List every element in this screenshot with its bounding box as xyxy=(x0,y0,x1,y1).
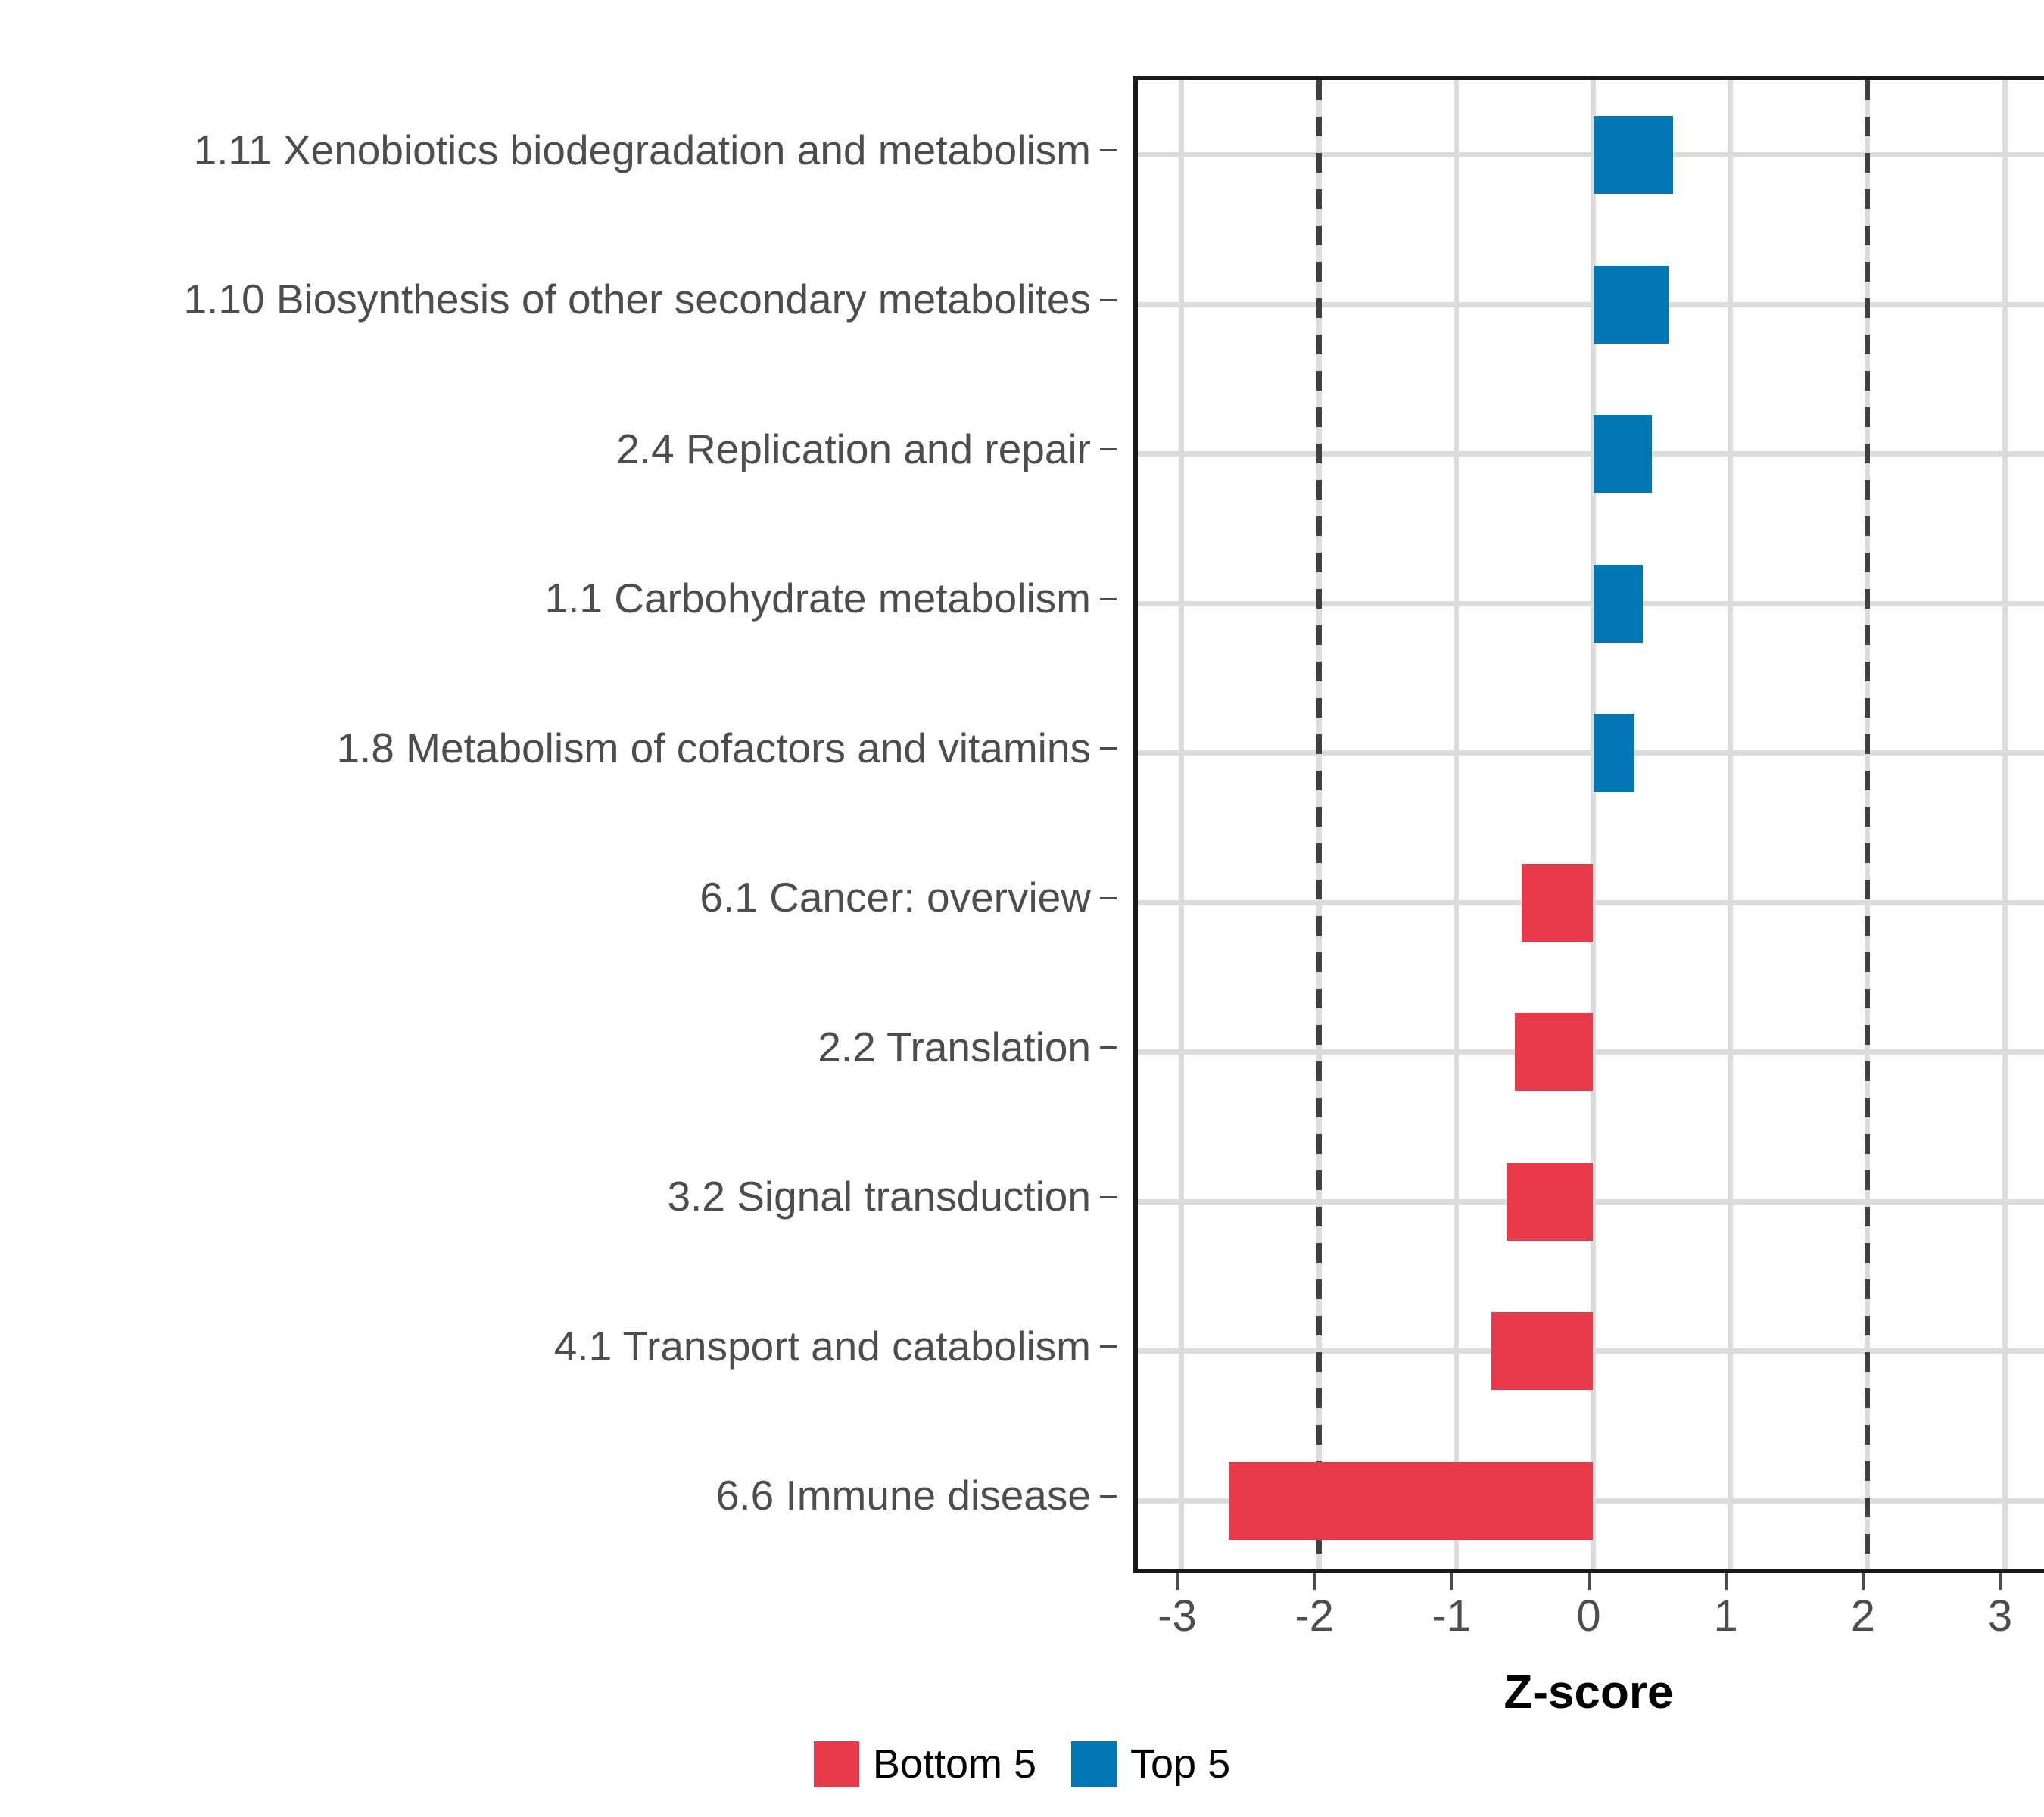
bar xyxy=(1594,266,1669,344)
x-axis-tick-label: 2 xyxy=(1818,1593,1908,1640)
bar xyxy=(1229,1462,1594,1540)
x-axis-tick-label: 3 xyxy=(1955,1593,2044,1640)
bar xyxy=(1491,1312,1593,1390)
legend-swatch xyxy=(1071,1741,1117,1787)
x-axis: -3-2-10123 xyxy=(1133,1573,2044,1664)
bar xyxy=(1594,116,1673,194)
x-axis-tick-label: 1 xyxy=(1681,1593,1771,1640)
legend-label: Bottom 5 xyxy=(873,1744,1036,1784)
gridline-vertical xyxy=(1179,80,1184,1571)
y-axis-label: 1.11 Xenobiotics biodegradation and meta… xyxy=(0,129,1117,171)
x-axis-tick xyxy=(1862,1573,1865,1590)
gridline-vertical xyxy=(1454,80,1459,1571)
y-axis-label: 2.2 Translation xyxy=(0,1027,1117,1068)
y-axis-label: 1.8 Metabolism of cofactors and vitamins xyxy=(0,728,1117,769)
y-axis-label: 6.6 Immune disease xyxy=(0,1475,1117,1516)
bar xyxy=(1522,864,1593,942)
y-axis-tick xyxy=(1100,299,1117,301)
x-axis-tick-label: 0 xyxy=(1544,1593,1634,1640)
chart-legend: Bottom 5Top 5 xyxy=(0,1741,2044,1787)
legend-swatch xyxy=(814,1741,859,1787)
y-axis-tick xyxy=(1100,897,1117,899)
zscore-bar-chart-figure: 1.11 Xenobiotics biodegradation and meta… xyxy=(0,0,2044,1817)
y-axis-label: 3.2 Signal transduction xyxy=(0,1176,1117,1217)
y-axis-tick xyxy=(1100,1196,1117,1198)
y-axis-label: 6.1 Cancer: overview xyxy=(0,877,1117,918)
y-axis-category-labels: 1.11 Xenobiotics biodegradation and meta… xyxy=(0,76,1117,1571)
bar xyxy=(1594,714,1634,792)
x-axis-tick xyxy=(1176,1573,1179,1590)
bar xyxy=(1594,565,1643,643)
y-axis-tick xyxy=(1100,598,1117,600)
x-axis-tick xyxy=(1999,1573,2002,1590)
x-axis-tick xyxy=(1588,1573,1591,1590)
y-axis-label: 1.1 Carbohydrate metabolism xyxy=(0,578,1117,619)
y-axis-tick xyxy=(1100,747,1117,750)
plot-panel xyxy=(1133,76,2044,1571)
x-axis-tick xyxy=(1313,1573,1316,1590)
legend-entry[interactable]: Bottom 5 xyxy=(814,1741,1036,1787)
gridline-vertical xyxy=(2002,80,2008,1571)
x-axis-tick-label: -2 xyxy=(1269,1593,1360,1640)
x-axis-tick xyxy=(1725,1573,1728,1590)
x-axis-tick xyxy=(1450,1573,1453,1590)
gridline-vertical xyxy=(1728,80,1733,1571)
y-axis-label: 1.10 Biosynthesis of other secondary met… xyxy=(0,279,1117,320)
y-axis-tick xyxy=(1100,1495,1117,1498)
bar xyxy=(1515,1013,1593,1091)
x-axis-tick-label: -1 xyxy=(1406,1593,1497,1640)
y-axis-label: 4.1 Transport and catabolism xyxy=(0,1326,1117,1367)
x-axis-title: Z-score xyxy=(1133,1666,2044,1719)
legend-label: Top 5 xyxy=(1130,1744,1230,1784)
threshold-line xyxy=(1316,80,1322,1571)
threshold-line xyxy=(1865,80,1870,1571)
legend-entry[interactable]: Top 5 xyxy=(1071,1741,1230,1787)
bar xyxy=(1594,415,1653,493)
y-axis-tick xyxy=(1100,1345,1117,1348)
x-axis-tick-label: -3 xyxy=(1132,1593,1223,1640)
y-axis-label: 2.4 Replication and repair xyxy=(0,429,1117,470)
y-axis-tick xyxy=(1100,1046,1117,1049)
y-axis-tick xyxy=(1100,149,1117,151)
bar xyxy=(1507,1163,1593,1241)
y-axis-tick xyxy=(1100,448,1117,450)
